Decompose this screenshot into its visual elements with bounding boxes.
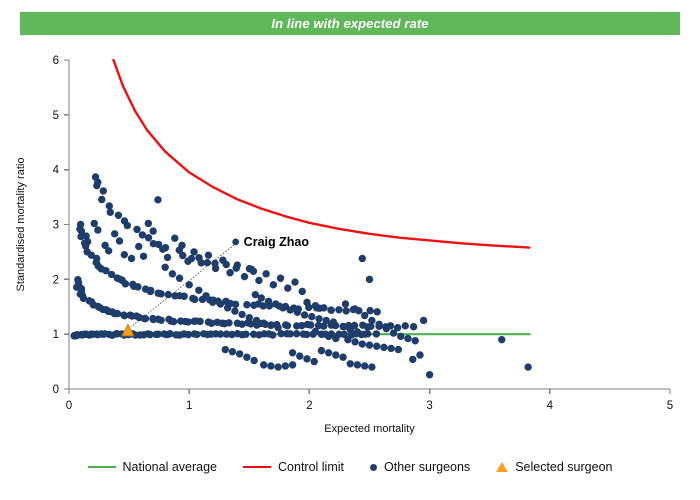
banner-title: In line with expected rate (271, 16, 428, 31)
data-point (98, 196, 105, 203)
data-point (226, 269, 233, 276)
data-point (409, 356, 416, 363)
data-point (179, 252, 186, 259)
data-point (312, 302, 319, 309)
x-tick-label: 2 (306, 400, 312, 412)
data-point (111, 230, 118, 237)
data-point (250, 357, 257, 364)
data-point (198, 259, 205, 266)
data-point (134, 283, 141, 290)
data-point (325, 333, 332, 340)
data-point (212, 265, 219, 272)
data-point (524, 363, 531, 370)
data-point (373, 330, 380, 337)
data-point (411, 337, 418, 344)
y-tick-label: 2 (53, 274, 59, 286)
data-point (397, 333, 404, 340)
legend-label: Other surgeons (384, 460, 470, 474)
data-point (229, 348, 236, 355)
data-point (272, 300, 279, 307)
data-point (157, 317, 164, 324)
data-point (190, 248, 197, 255)
data-point (124, 222, 131, 229)
data-point (410, 323, 417, 330)
y-tick-label: 4 (53, 165, 60, 177)
data-point (294, 309, 301, 316)
x-tick-label: 1 (186, 400, 192, 412)
data-point (128, 255, 135, 262)
data-point (354, 328, 361, 335)
data-point (390, 329, 397, 336)
data-point (402, 322, 409, 329)
data-point (498, 336, 505, 343)
data-point (284, 284, 291, 291)
data-point (359, 255, 366, 262)
funnel-plot-page: In line with expected rate 0123456012345… (0, 0, 700, 500)
data-point (267, 322, 274, 329)
data-point (318, 347, 325, 354)
data-point (217, 300, 224, 307)
control-limit-curve (113, 60, 529, 248)
y-tick-label: 5 (53, 110, 59, 122)
data-point (289, 361, 296, 368)
data-point (243, 354, 250, 361)
data-point (361, 312, 368, 319)
data-point (315, 315, 322, 322)
data-point (159, 245, 166, 252)
data-point (320, 304, 327, 311)
data-point (339, 323, 346, 330)
data-point (267, 362, 274, 369)
data-point (274, 324, 281, 331)
data-point (225, 319, 232, 326)
data-point (426, 371, 433, 378)
data-point (269, 331, 276, 338)
selected-surgeon-marker[interactable] (122, 324, 134, 336)
data-point (140, 253, 147, 260)
data-point (282, 362, 289, 369)
y-axis-title: Standardised mortality ratio (15, 158, 27, 292)
data-point (260, 361, 267, 368)
data-point (293, 330, 300, 337)
data-point (93, 182, 100, 189)
data-point (277, 275, 284, 282)
y-tick-label: 0 (53, 384, 59, 396)
data-point (279, 304, 286, 311)
data-point (178, 242, 185, 249)
data-point (242, 331, 249, 338)
data-point (318, 330, 325, 337)
y-tick-label: 3 (53, 220, 59, 232)
data-point (303, 299, 310, 306)
data-point (133, 226, 140, 233)
data-point (265, 298, 272, 305)
data-point (260, 320, 267, 327)
other-surgeons-points (71, 173, 532, 378)
line-swatch-icon (88, 466, 116, 468)
data-point (176, 275, 183, 282)
data-point (169, 270, 176, 277)
data-point (380, 344, 387, 351)
data-point (308, 313, 315, 320)
data-point (94, 226, 101, 233)
data-point (234, 261, 241, 268)
data-point (232, 301, 239, 308)
data-point (231, 307, 238, 314)
data-point (142, 315, 149, 322)
line-swatch-icon (243, 466, 271, 468)
data-point (387, 345, 394, 352)
data-point (81, 239, 88, 246)
legend-label: Control limit (278, 460, 344, 474)
data-point (332, 351, 339, 358)
data-point (291, 278, 298, 285)
data-point (248, 266, 255, 273)
data-point (303, 331, 310, 338)
data-point (255, 277, 262, 284)
data-point (298, 288, 305, 295)
data-point (161, 264, 168, 271)
data-point (181, 293, 188, 300)
data-point (236, 350, 243, 357)
data-point (373, 308, 380, 315)
data-point (145, 234, 152, 241)
data-point (354, 361, 361, 368)
triangle-swatch-icon (496, 462, 508, 472)
data-point (77, 233, 84, 240)
data-point (342, 307, 349, 314)
chart-area: 0123456012345Expected mortalityStandardi… (0, 40, 700, 440)
x-tick-label: 0 (66, 400, 72, 412)
data-point (116, 237, 123, 244)
data-point (339, 354, 346, 361)
data-point (366, 276, 373, 283)
data-point (243, 301, 250, 308)
data-point (210, 296, 217, 303)
x-tick-label: 3 (426, 400, 432, 412)
dot-swatch-icon (370, 464, 377, 471)
legend-item-control-limit[interactable]: Control limit (243, 460, 344, 474)
data-point (287, 330, 294, 337)
data-point (107, 209, 114, 216)
data-point (184, 258, 191, 265)
data-point (347, 360, 354, 367)
data-point (164, 254, 171, 261)
data-point (115, 212, 122, 219)
data-point (222, 346, 229, 353)
data-point (121, 251, 128, 258)
data-point (114, 310, 121, 317)
data-point (335, 306, 342, 313)
data-point (330, 318, 337, 325)
data-point (224, 304, 231, 311)
data-point (361, 330, 368, 337)
annotation-anchor-dot (232, 238, 239, 245)
data-point (289, 349, 296, 356)
data-point (100, 187, 107, 194)
data-point (246, 314, 253, 321)
data-point (420, 317, 427, 324)
data-point (323, 317, 330, 324)
data-point (186, 281, 193, 288)
data-point (154, 196, 161, 203)
data-point (286, 306, 293, 313)
data-point (105, 247, 112, 254)
legend-item-national-average[interactable]: National average (88, 460, 218, 474)
data-point (145, 220, 152, 227)
data-point (359, 340, 366, 347)
data-point (361, 362, 368, 369)
chart-legend: National averageControl limitOther surge… (0, 452, 700, 482)
data-point (368, 317, 375, 324)
funnel-plot-svg: 0123456012345Expected mortalityStandardi… (0, 40, 700, 440)
data-point (375, 321, 382, 328)
data-point (347, 326, 354, 333)
data-point (238, 311, 245, 318)
data-point (241, 273, 248, 280)
data-point (274, 363, 281, 370)
legend-item-other-surgeons[interactable]: Other surgeons (370, 460, 470, 474)
x-tick-label: 4 (547, 400, 554, 412)
data-point (296, 352, 303, 359)
data-point (149, 227, 156, 234)
data-point (157, 290, 164, 297)
data-point (303, 355, 310, 362)
data-point (219, 256, 226, 263)
data-point (325, 349, 332, 356)
data-point (307, 321, 314, 328)
data-point (171, 235, 178, 242)
data-point (373, 343, 380, 350)
data-point (332, 335, 339, 342)
data-point (404, 335, 411, 342)
data-point (344, 336, 351, 343)
data-point (196, 318, 203, 325)
data-point (193, 331, 200, 338)
data-point (253, 317, 260, 324)
data-point (91, 220, 98, 227)
legend-item-selected-surgeon[interactable]: Selected surgeon (496, 460, 612, 474)
data-point (170, 318, 177, 325)
data-point (383, 325, 390, 332)
data-point (191, 296, 198, 303)
data-point (147, 288, 154, 295)
data-point (368, 363, 375, 370)
data-point (202, 292, 209, 299)
annotation-label: Craig Zhao (244, 235, 310, 249)
data-point (311, 358, 318, 365)
data-point (416, 351, 423, 358)
data-point (135, 243, 142, 250)
data-point (195, 287, 202, 294)
data-point (351, 305, 358, 312)
data-point (342, 300, 349, 307)
legend-label: National average (123, 460, 218, 474)
legend-label: Selected surgeon (515, 460, 612, 474)
data-point (258, 294, 265, 301)
data-point (327, 306, 334, 313)
data-point (284, 322, 291, 329)
data-point (366, 341, 373, 348)
data-point (106, 202, 113, 209)
y-tick-label: 6 (53, 55, 59, 67)
data-point (301, 311, 308, 318)
data-point (205, 252, 212, 259)
data-point (395, 346, 402, 353)
status-banner: In line with expected rate (20, 12, 680, 35)
x-tick-label: 5 (667, 400, 673, 412)
data-point (351, 338, 358, 345)
x-axis-title: Expected mortality (324, 423, 415, 435)
y-tick-label: 1 (53, 329, 59, 341)
data-point (262, 270, 269, 277)
data-point (122, 280, 129, 287)
data-point (270, 281, 277, 288)
